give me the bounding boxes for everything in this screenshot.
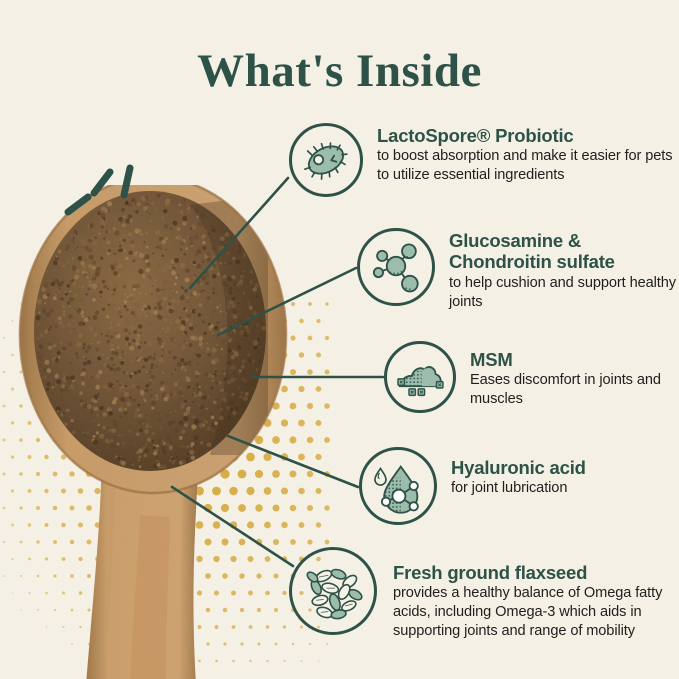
infographic-page: What's Inside (0, 0, 679, 679)
callout-heading: Hyaluronic acid (451, 457, 586, 478)
molecule-icon (357, 228, 435, 306)
callout-heading: LactoSpore® Probiotic (377, 125, 679, 146)
callout-glucosamine: Glucosamine & Chondroitin sulfate to hel… (357, 228, 679, 312)
callout-lactospore: LactoSpore® Probiotic to boost absorptio… (289, 123, 679, 197)
page-title: What's Inside (0, 44, 679, 98)
wooden-spoon-with-powder (0, 185, 330, 679)
callout-heading: Fresh ground flaxseed (393, 562, 679, 583)
callout-body: provides a healthy balance of Omega fatt… (393, 584, 679, 641)
flaxseed-cluster-icon (289, 547, 377, 635)
callout-heading: MSM (470, 349, 679, 370)
powder-mound-icon (384, 341, 456, 413)
callout-body: to help cushion and support healthy join… (449, 274, 679, 312)
callout-flaxseed: Fresh ground flaxseed provides a healthy… (289, 547, 679, 641)
callout-body: for joint lubrication (451, 479, 586, 498)
callout-heading: Glucosamine & Chondroitin sulfate (449, 230, 679, 273)
callout-body: Eases discomfort in joints and muscles (470, 371, 679, 409)
callout-hyaluronic: Hyaluronic acid for joint lubrication (359, 447, 586, 525)
callout-body: to boost absorption and make it easier f… (377, 147, 679, 185)
probiotic-bacteria-icon (289, 123, 363, 197)
callout-msm: MSM Eases discomfort in joints and muscl… (384, 341, 679, 413)
water-droplet-molecule-icon (359, 447, 437, 525)
